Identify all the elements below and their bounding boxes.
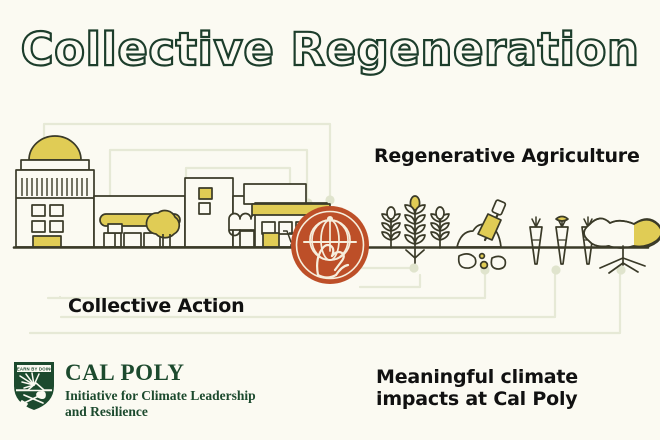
globe-pole-dot: [328, 217, 332, 221]
cal-poly-logo: LEARN BY DOING CAL POLY: [12, 360, 256, 421]
label-collective-action: Collective Action: [68, 295, 244, 317]
tagline-line1: Initiative for Climate Leadership: [65, 388, 256, 404]
label-meaningful-line1: Meaningful climate: [376, 366, 578, 388]
cal-poly-initiative-tagline: Initiative for Climate Leadership and Re…: [65, 388, 256, 421]
shield-motto-text: LEARN BY DOING: [14, 367, 54, 372]
slide-canvas: Collective Regeneration: [0, 0, 660, 440]
tagline-line2: and Resilience: [65, 404, 256, 420]
label-meaningful-impacts: Meaningful climate impacts at Cal Poly: [376, 366, 578, 411]
label-regenerative-agriculture: Regenerative Agriculture: [374, 145, 640, 167]
cal-poly-shield-icon: LEARN BY DOING: [12, 360, 56, 412]
cal-poly-logo-text: CAL POLY Initiative for Climate Leadersh…: [65, 360, 256, 421]
label-meaningful-line2: impacts at Cal Poly: [376, 388, 578, 410]
cal-poly-wordmark: CAL POLY: [65, 361, 256, 384]
